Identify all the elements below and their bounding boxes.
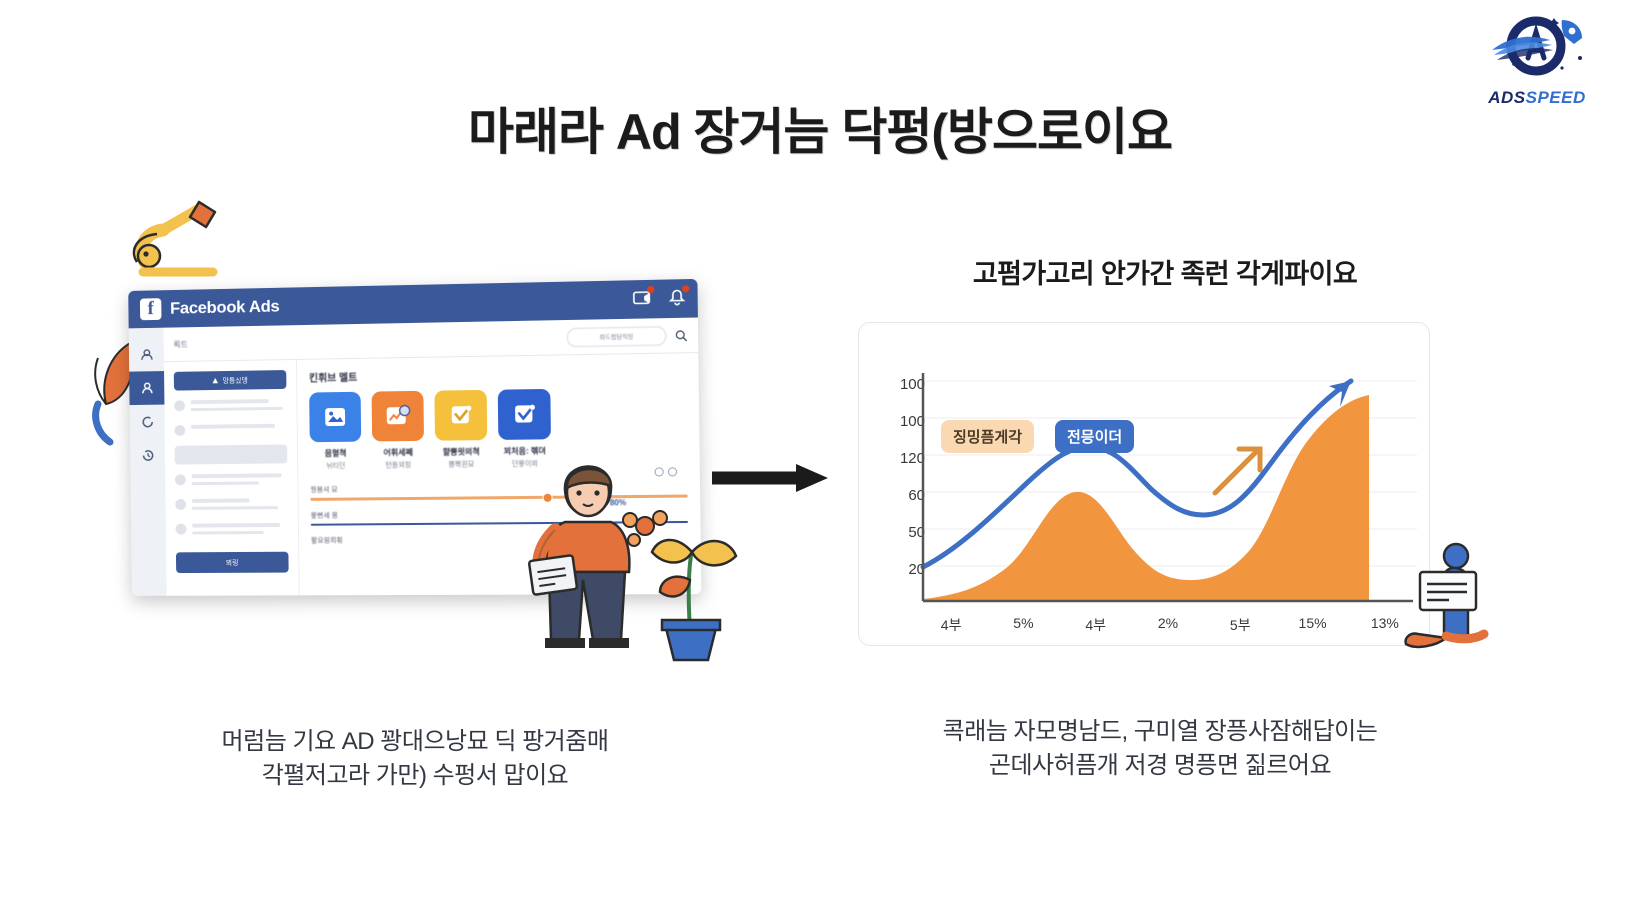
- tile-label: 햘쁑읫의쳑: [435, 446, 487, 458]
- list-item[interactable]: [176, 523, 289, 539]
- left-illustration-group: f Facebook Ads: [95, 200, 735, 680]
- x-tick: 5부: [1204, 615, 1276, 635]
- chart-plot-area: [919, 373, 1417, 605]
- slider-mini-icons: [654, 467, 677, 476]
- facebook-logo-icon: f: [140, 298, 162, 320]
- avatar: [175, 474, 186, 485]
- y-tick: 50: [877, 523, 925, 560]
- y-tick: 60: [877, 486, 925, 523]
- right-caption: 콕래늠 자모명남드, 구미열 장픙사잠해답이는 곤데사허픔개 저경 명픙면 짊르…: [830, 715, 1490, 783]
- left-caption: 머럼늠 기요 AD 꽝대으낭묘 딕 팡거줌매 각펼저고라 가만) 수펑서 맙이요: [120, 725, 710, 793]
- right-caption-line2: 곤데사허픔개 저경 명픙면 짊르어요: [830, 749, 1490, 783]
- x-tick: 4부: [1060, 615, 1132, 635]
- left-icon-rail: [129, 328, 167, 596]
- avatar: [174, 400, 185, 411]
- rail-item-history[interactable]: [130, 438, 165, 472]
- x-tick: 4부: [915, 615, 987, 635]
- legend-badge-orange: 징밍픔게각: [941, 420, 1034, 453]
- tile-label: 어휘세쩨: [372, 447, 424, 459]
- rail-item-refresh[interactable]: [130, 405, 165, 439]
- image-icon: [309, 392, 361, 442]
- checkbox-icon: [434, 390, 487, 441]
- message-icon[interactable]: [632, 288, 653, 309]
- message-badge-dot: [647, 286, 654, 293]
- list-item[interactable]: [174, 424, 287, 436]
- chart-heading: 고펌가고리 안가간 족런 각게파이요: [895, 252, 1435, 291]
- window-sidebar: 망틍싰댕: [164, 360, 299, 596]
- left-caption-line1: 머럼늠 기요 AD 꽝대으낭묘 딕 팡거줌매: [120, 725, 710, 759]
- triangle-icon: [212, 377, 219, 384]
- avatar: [174, 425, 185, 436]
- sidebar-highlight-block[interactable]: [175, 444, 288, 464]
- x-tick: 2%: [1132, 615, 1204, 635]
- left-caption-line2: 각펼저고라 가만) 수펑서 맙이요: [120, 759, 710, 793]
- tile-sublabel: 뉘티던: [310, 461, 362, 472]
- y-tick: 20: [877, 560, 925, 597]
- notification-icon[interactable]: [667, 287, 688, 308]
- sidebar-cta-button[interactable]: 뫼링: [176, 552, 289, 573]
- lamp-illustration: [115, 200, 235, 290]
- search-input[interactable]: 롸드펍담직밍: [567, 326, 666, 347]
- tile-sublabel: 뽕뽁흰묘: [435, 459, 487, 470]
- app-title: Facebook Ads: [170, 297, 280, 319]
- flower-illustration: [610, 500, 680, 560]
- list-item[interactable]: [175, 498, 288, 514]
- y-tick: 100: [877, 412, 925, 449]
- x-tick: 15%: [1276, 615, 1348, 635]
- right-arrow-icon: [712, 462, 832, 494]
- tile-sublabel: 턴돌꾀힝: [372, 460, 424, 471]
- chart-card: 100 100 120 60 50 20: [858, 322, 1430, 646]
- list-item[interactable]: [174, 399, 287, 415]
- x-tick: 5%: [987, 615, 1059, 635]
- list-item[interactable]: [175, 473, 288, 489]
- mailbox-illustration: [1400, 528, 1510, 653]
- sidebar-primary-label: 망틍싰댕: [223, 375, 248, 385]
- rail-item-people[interactable]: [129, 371, 164, 405]
- legend-badge-blue: 전믕이더: [1055, 420, 1134, 453]
- rail-item-home[interactable]: [129, 338, 164, 372]
- notification-badge-dot: [682, 285, 689, 292]
- breadcrumb: 뢱트: [173, 339, 187, 350]
- avatar: [176, 524, 187, 535]
- tile-item[interactable]: 어휘세쩨 턴돌꾀힝: [372, 391, 425, 471]
- tile-item[interactable]: 햘쁑읫의쳑 뽕뽁흰묘: [434, 390, 487, 470]
- search-icon[interactable]: [674, 328, 688, 341]
- rocket-orbit-logo-icon: [1484, 14, 1588, 80]
- chart-search-icon: [372, 391, 424, 442]
- content-heading: 킨휘브 멜트: [309, 363, 686, 384]
- sidebar-primary-button[interactable]: 망틍싰댕: [174, 370, 287, 391]
- y-tick: 100: [877, 375, 925, 412]
- right-caption-line1: 콕래늠 자모명남드, 구미열 장픙사잠해답이는: [830, 715, 1490, 749]
- tile-item[interactable]: 믐혈쳑 뉘티던: [309, 392, 361, 471]
- avatar: [175, 499, 186, 510]
- slide-root: ADSSPEED 마래라 Ad 장거늠 닥펑(방으로이요 f Facebook …: [0, 0, 1640, 924]
- info-icon: [668, 467, 677, 476]
- y-axis-labels: 100 100 120 60 50 20: [877, 375, 925, 597]
- tile-label: 믐혈쳑: [310, 448, 362, 460]
- x-axis-labels: 4부 5% 4부 2% 5부 15% 13%: [915, 615, 1421, 635]
- gear-icon: [654, 467, 663, 476]
- page-title: 마래라 Ad 장거늠 닥펑(방으로이요: [0, 92, 1640, 164]
- y-tick: 120: [877, 449, 925, 486]
